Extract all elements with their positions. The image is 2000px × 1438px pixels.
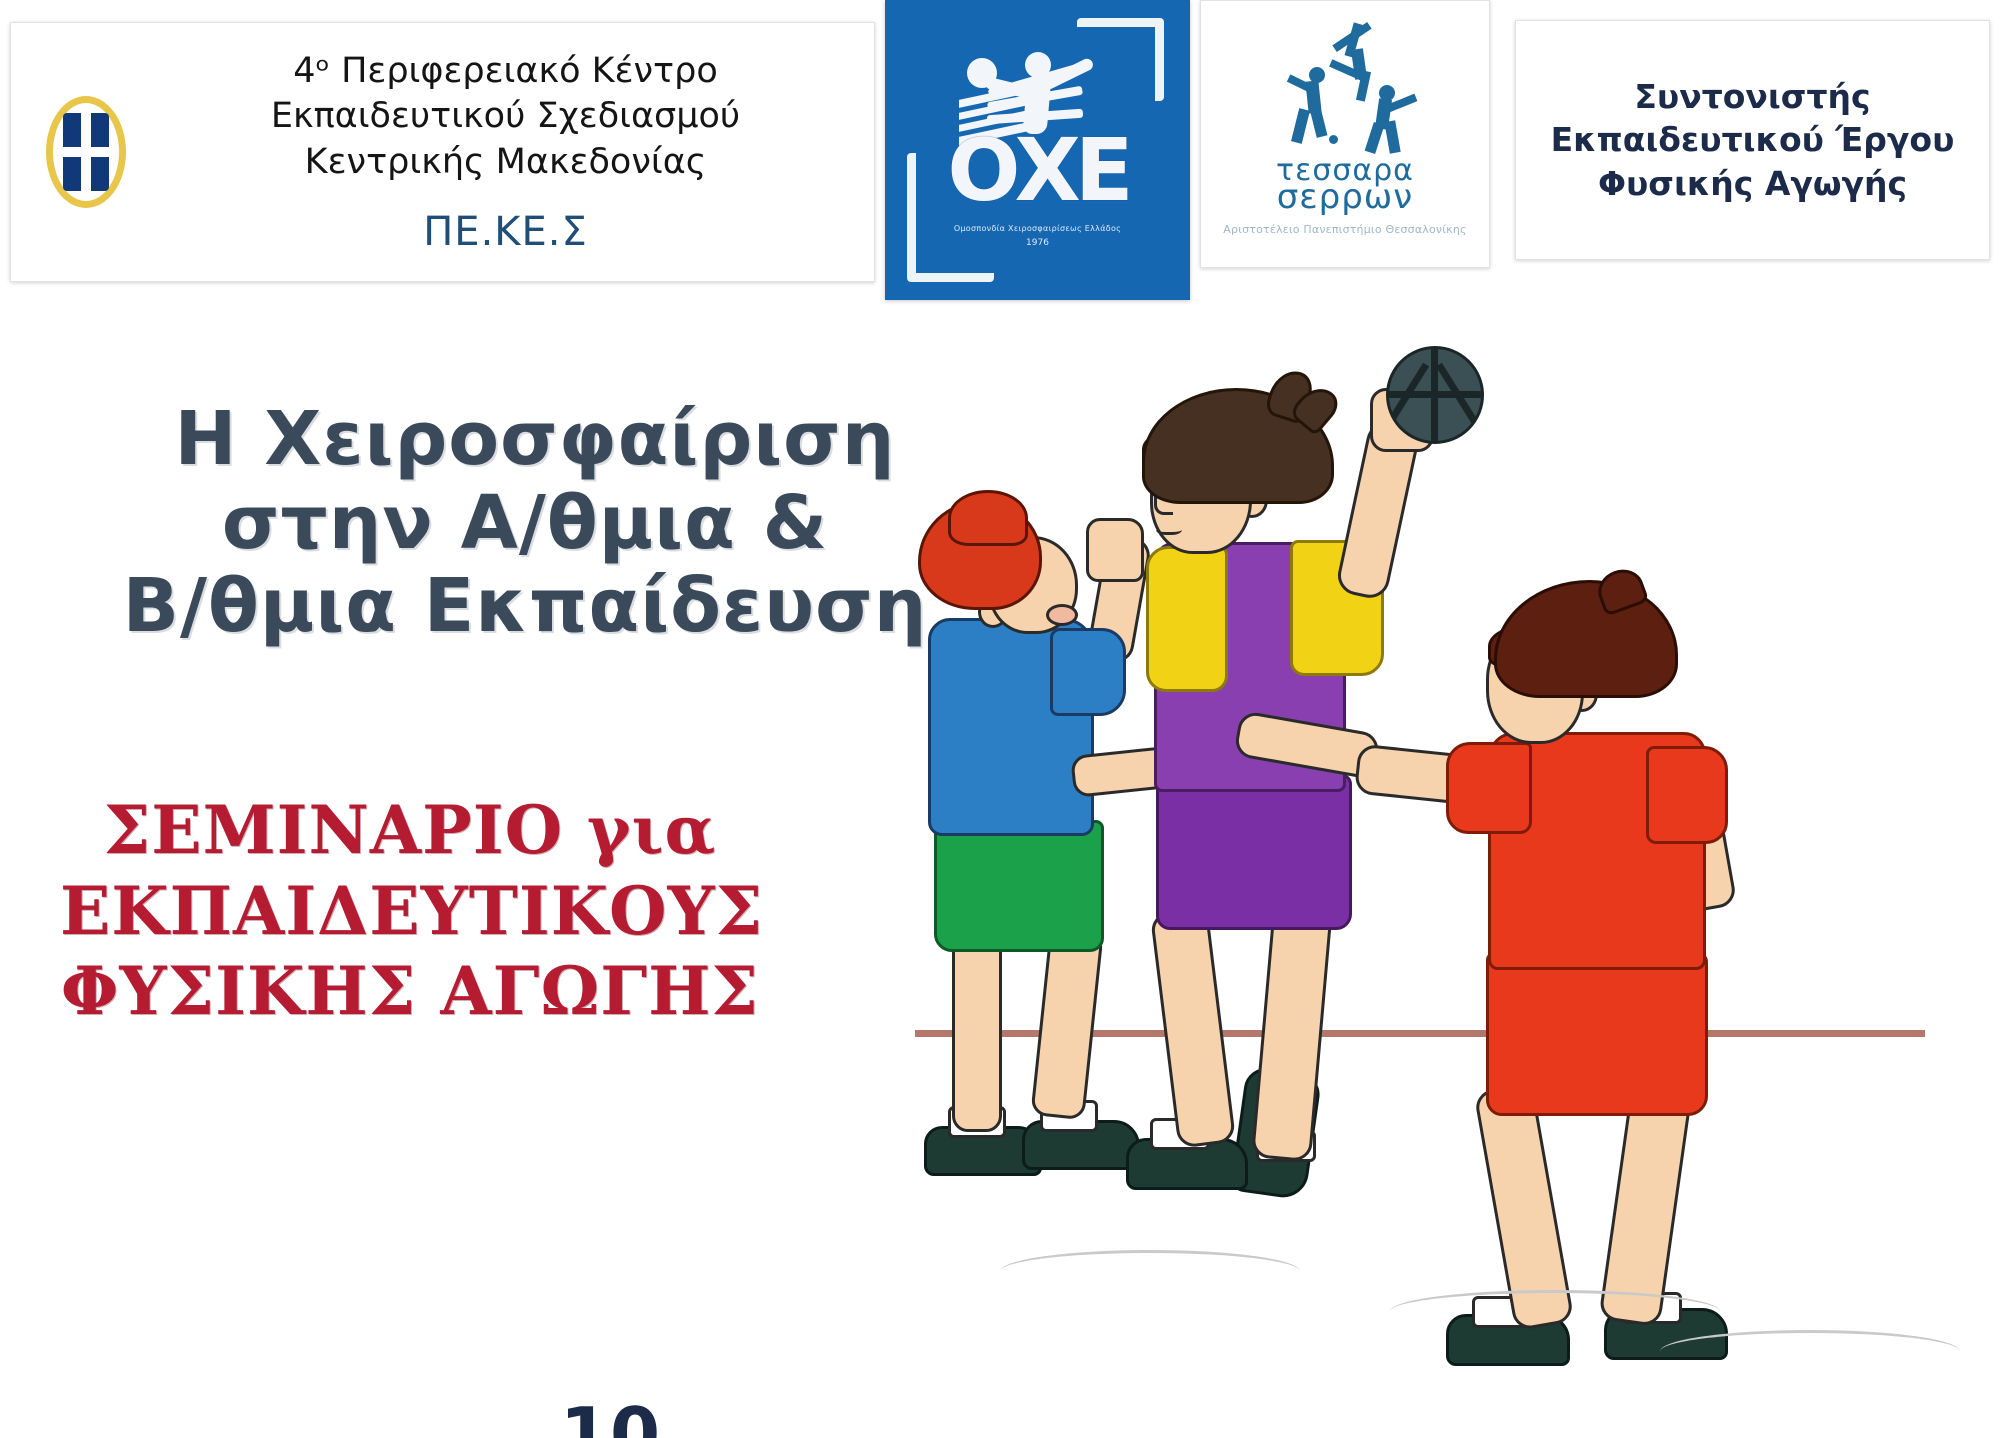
logo-card-syntonistis: Συντονιστής Εκπαιδευτικού Έργου Φυσικής … — [1515, 20, 1990, 260]
seminar-line-1: ΣΕΜΙΝΑΡΙΟ για — [60, 790, 760, 871]
handball-ball — [1386, 346, 1484, 444]
syntonistis-line-3: Φυσικής Αγωγής — [1551, 162, 1955, 206]
tessera-athletes-icon — [1201, 23, 1489, 151]
tessera-subtitle: Αριστοτέλειο Πανεπιστήμιο Θεσσαλονίκης — [1201, 223, 1489, 236]
logo-card-oxe: OΧΕ Ομοσπονδία Χειροσφαιρίσεως Ελλάδος 1… — [885, 0, 1190, 300]
header-logo-strip: 4ᵒ Περιφερειακό Κέντρο Εκπαιδευτικού Σχε… — [0, 0, 2000, 300]
title-line-1: Η Χειροσφαίριση — [95, 398, 955, 482]
pekes-line-3: Κεντρικής Μακεδονίας — [161, 140, 850, 185]
tessera-word-2: σερρων — [1201, 177, 1489, 217]
pekes-line-2: Εκπαιδευτικού Σχεδιασμού — [161, 94, 850, 139]
oxe-letters: OΧΕ — [885, 128, 1190, 214]
pekes-text-block: 4ᵒ Περιφερειακό Κέντρο Εκπαιδευτικού Σχε… — [161, 49, 874, 254]
date-text-cutoff: 10 — [60, 1398, 1160, 1438]
oxe-subtitle: Ομοσπονδία Χειροσφαιρίσεως Ελλάδος — [885, 224, 1190, 233]
player-boy-right — [1480, 580, 1860, 1400]
title-line-2: στην Α/θμια & — [95, 482, 955, 566]
seminar-line-3: ΦΥΣΙΚΗΣ ΑΓΩΓΗΣ — [60, 951, 760, 1032]
ground-shadow — [1000, 1250, 1300, 1293]
pekes-line-1: 4ᵒ Περιφερειακό Κέντρο — [161, 49, 850, 94]
pekes-abbreviation: ΠΕ.ΚΕ.Σ — [161, 209, 850, 255]
main-title: Η Χειροσφαίριση στην Α/θμια & Β/θμια Εκπ… — [95, 398, 955, 649]
syntonistis-line-2: Εκπαιδευτικού Έργου — [1551, 118, 1955, 162]
oxe-year: 1976 — [885, 238, 1190, 248]
title-line-3: Β/θμια Εκπαίδευση — [95, 565, 955, 649]
ground-shadow — [1660, 1330, 1960, 1373]
logo-card-tessera-serron: τεσσαρα σερρων Αριστοτέλειο Πανεπιστήμιο… — [1200, 0, 1490, 268]
ground-shadow — [1390, 1290, 1720, 1333]
logo-card-pekes: 4ᵒ Περιφερειακό Κέντρο Εκπαιδευτικού Σχε… — [10, 22, 875, 282]
seminar-line-2: ΕΚΠΑΙΔΕΥΤΙΚΟΥΣ — [60, 871, 760, 952]
syntonistis-line-1: Συντονιστής — [1551, 75, 1955, 119]
greek-coat-of-arms-icon — [11, 96, 161, 208]
player-boy-center — [1120, 370, 1500, 1310]
seminar-subtitle: ΣΕΜΙΝΑΡΙΟ για ΕΚΠΑΙΔΕΥΤΙΚΟΥΣ ΦΥΣΙΚΗΣ ΑΓΩ… — [60, 790, 760, 1032]
handball-illustration — [1060, 330, 2000, 1438]
